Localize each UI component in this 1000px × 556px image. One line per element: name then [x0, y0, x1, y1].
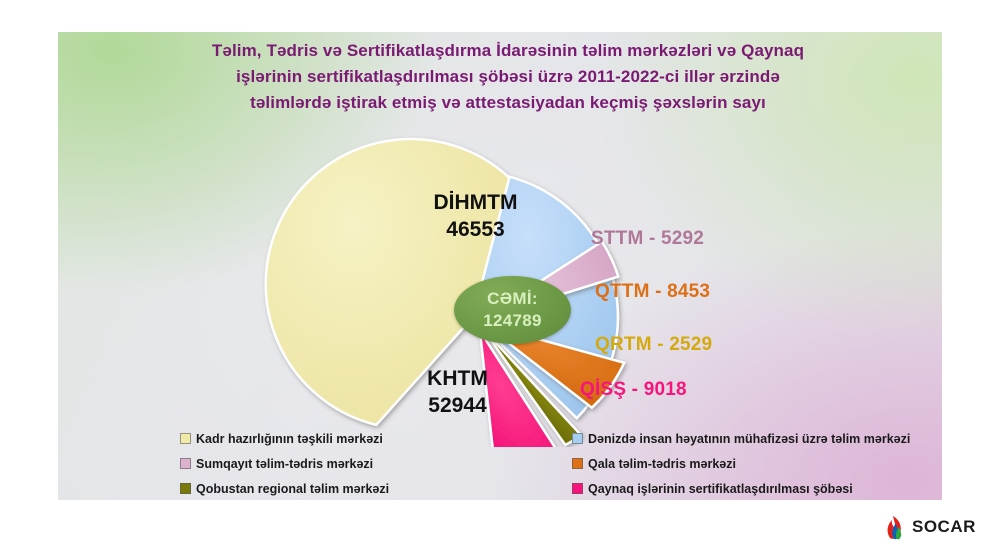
- socar-flame-icon: [884, 514, 906, 540]
- slide-stage: Təlim, Tədris və Sertifikatlaşdırma İdar…: [0, 0, 1000, 556]
- legend-label: Qobustan regional təlim mərkəzi: [196, 482, 389, 496]
- slice-label-DIHMTM-value: 46553: [408, 216, 543, 243]
- slice-label-DIHMTM: DİHMTM 46553: [408, 189, 543, 243]
- total-caption: CƏMİ:: [487, 288, 538, 310]
- slice-label-KHTM-abbr: KHTM: [390, 365, 525, 392]
- legend-swatch-dihmtm: [572, 433, 583, 444]
- legend-column-right: Dənizdə insan həyatının mühafizəsi üzrə …: [572, 427, 910, 502]
- slice-label-KHTM: KHTM 52944: [390, 365, 525, 419]
- title-line-3: təlimlərdə iştirak etmiş və attestasiyad…: [128, 90, 888, 116]
- slice-label-DIHMTM-abbr: DİHMTM: [408, 189, 543, 216]
- legend-item: Dənizdə insan həyatının mühafizəsi üzrə …: [572, 427, 910, 450]
- legend-label: Qala təlim-tədris mərkəzi: [588, 457, 736, 471]
- page-title: Təlim, Tədris və Sertifikatlaşdırma İdar…: [128, 38, 888, 116]
- socar-wordmark: SOCAR: [912, 517, 976, 537]
- legend-swatch-khtm: [180, 433, 191, 444]
- total-badge: CƏMİ: 124789: [454, 276, 571, 344]
- legend-column-left: Kadr hazırlığının təşkili mərkəzi Sumqay…: [180, 427, 389, 502]
- callout-QISS: QİSŞ - 9018: [580, 379, 687, 401]
- callout-QTTM: QTTM - 8453: [595, 281, 710, 303]
- legend-item: Qala təlim-tədris mərkəzi: [572, 452, 910, 475]
- legend-swatch-sttm: [180, 458, 191, 469]
- legend-label: Dənizdə insan həyatının mühafizəsi üzrə …: [588, 432, 910, 446]
- legend-item: Qobustan regional təlim mərkəzi: [180, 477, 389, 500]
- title-line-2: işlərinin sertifikatlaşdırılması şöbəsi …: [128, 64, 888, 90]
- legend-swatch-qttm: [572, 458, 583, 469]
- legend-swatch-qiss: [572, 483, 583, 494]
- callout-STTM: STTM - 5292: [591, 228, 704, 250]
- slice-label-KHTM-value: 52944: [390, 392, 525, 419]
- legend-label: Qaynaq işlərinin sertifikatlaşdırılması …: [588, 482, 853, 496]
- legend-item: Sumqayıt təlim-tədris mərkəzi: [180, 452, 389, 475]
- legend-label: Kadr hazırlığının təşkili mərkəzi: [196, 432, 383, 446]
- slide-canvas: Təlim, Tədris və Sertifikatlaşdırma İdar…: [58, 32, 942, 500]
- callout-QRTM: QRTM - 2529: [595, 334, 712, 356]
- title-line-1: Təlim, Tədris və Sertifikatlaşdırma İdar…: [128, 38, 888, 64]
- socar-logo: SOCAR: [884, 514, 976, 540]
- legend-item: Qaynaq işlərinin sertifikatlaşdırılması …: [572, 477, 910, 500]
- legend-label: Sumqayıt təlim-tədris mərkəzi: [196, 457, 373, 471]
- total-value: 124789: [483, 310, 542, 332]
- legend-swatch-qrtm: [180, 483, 191, 494]
- legend-item: Kadr hazırlığının təşkili mərkəzi: [180, 427, 389, 450]
